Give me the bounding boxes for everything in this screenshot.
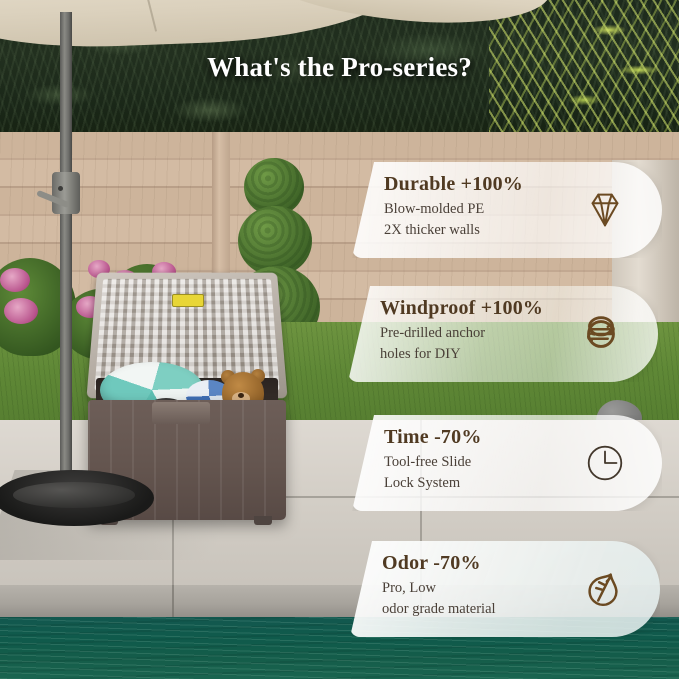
card-line-1: Blow-molded PE	[384, 199, 523, 220]
card-line-1: Tool-free Slide	[384, 452, 482, 473]
card-line-2: odor grade material	[382, 599, 496, 620]
card-text-block: Odor -70% Pro, Low odor grade material	[382, 552, 496, 619]
feature-card-durable[interactable]: Durable +100% Blow-molded PE 2X thicker …	[352, 162, 662, 258]
card-line-2: holes for DIY	[380, 344, 543, 365]
card-text-block: Windproof +100% Pre-drilled anchor holes…	[380, 297, 543, 364]
card-heading: Odor -70%	[382, 552, 496, 575]
page-title: What's the Pro-series?	[0, 52, 679, 83]
feature-card-odor[interactable]: Odor -70% Pro, Low odor grade material	[350, 541, 660, 637]
card-text-block: Durable +100% Blow-molded PE 2X thicker …	[384, 173, 523, 240]
card-heading: Windproof +100%	[380, 297, 543, 320]
wind-icon	[578, 311, 624, 357]
feature-card-time[interactable]: Time -70% Tool-free Slide Lock System	[352, 415, 662, 511]
feature-card-windproof[interactable]: Windproof +100% Pre-drilled anchor holes…	[348, 286, 658, 382]
card-heading: Durable +100%	[384, 173, 523, 196]
card-text-block: Time -70% Tool-free Slide Lock System	[384, 426, 482, 493]
diamond-icon	[582, 187, 628, 233]
card-line-2: Lock System	[384, 473, 482, 494]
card-line-1: Pro, Low	[382, 578, 496, 599]
card-line-2: 2X thicker walls	[384, 220, 523, 241]
product-marketing-image: What's the Pro-series? Durable +100% Blo…	[0, 0, 679, 679]
clock-icon	[582, 440, 628, 486]
card-heading: Time -70%	[384, 426, 482, 449]
leaf-icon	[580, 566, 626, 612]
feature-card-list: Durable +100% Blow-molded PE 2X thicker …	[0, 0, 679, 679]
card-line-1: Pre-drilled anchor	[380, 323, 543, 344]
